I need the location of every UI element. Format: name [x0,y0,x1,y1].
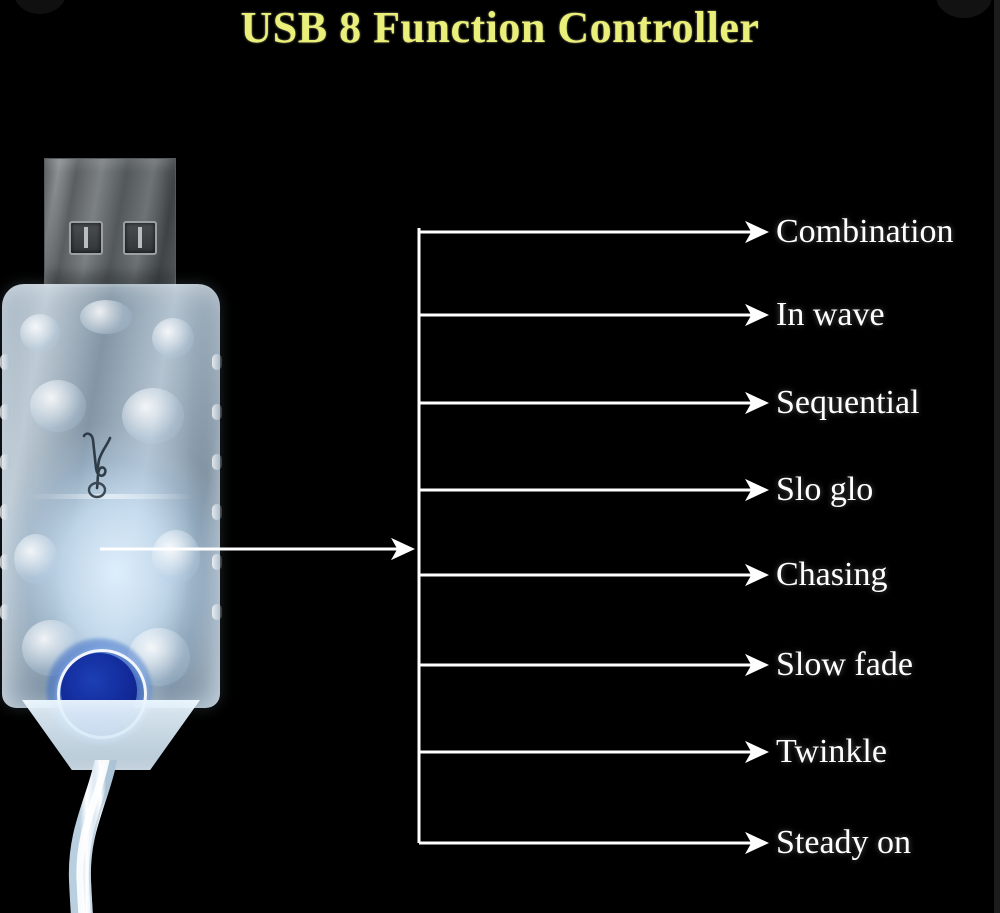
function-label-2: In wave [776,298,885,332]
product-diagram-image: USB 8 Function Controller [0,0,1000,913]
right-edge-border [994,0,1000,913]
function-label-1: Combination [776,215,954,249]
function-label-8: Steady on [776,826,911,860]
function-label-7: Twinkle [776,735,887,769]
usb-connector-slot-left [69,221,103,255]
usb-controller-illustration [0,140,240,913]
function-label-6: Slow fade [776,648,913,682]
led-cable [48,760,168,913]
usb-connector-slot-right [123,221,157,255]
function-label-5: Chasing [776,558,887,592]
wire-clip-glyph [70,430,124,500]
function-label-3: Sequential [776,386,920,420]
callout-branch-arrows [419,232,766,843]
usb-a-connector [44,158,176,287]
page-title: USB 8 Function Controller [0,2,1000,53]
function-label-4: Slo glo [776,473,873,507]
